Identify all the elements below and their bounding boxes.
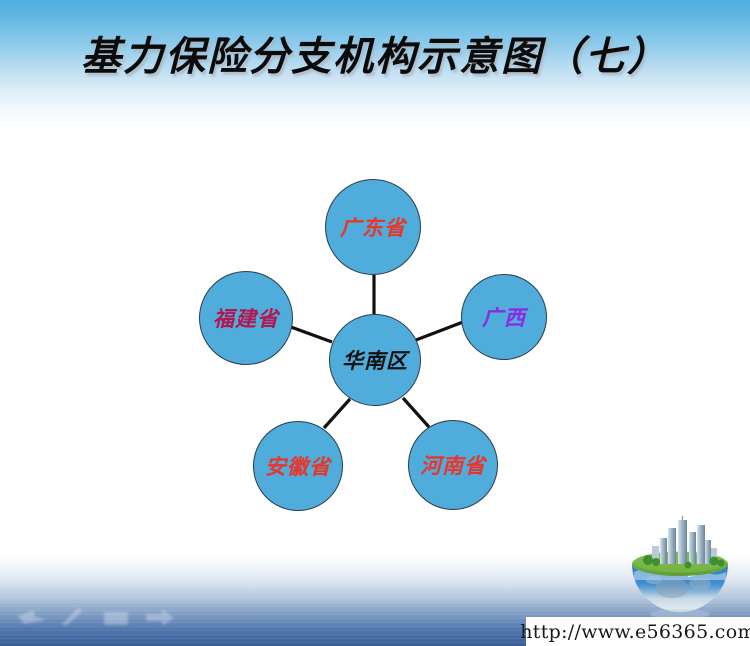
edge-center-to-henan (403, 398, 429, 427)
node-henan-label: 河南省 (420, 455, 486, 476)
node-fujian-label: 福建省 (213, 308, 279, 329)
node-henan[interactable]: 河南省 (408, 420, 498, 510)
node-guangdong[interactable]: 广东省 (325, 179, 421, 275)
edge-center-to-fujian (291, 327, 332, 342)
node-guangdong-label: 广东省 (340, 217, 406, 238)
node-anhui-label: 安徽省 (265, 456, 331, 477)
node-anhui[interactable]: 安徽省 (253, 421, 343, 511)
edge-center-to-guangxi (416, 322, 463, 340)
edge-center-to-anhui (324, 399, 350, 428)
node-center-label: 华南区 (342, 350, 408, 371)
node-guangxi[interactable]: 广西 (461, 274, 547, 360)
node-fujian[interactable]: 福建省 (199, 271, 293, 365)
globe-city-icon (626, 516, 734, 620)
slide-canvas: 基力保险分支机构示意图（七） 广东省 广西 福建省 安徽省 河南省 (0, 0, 750, 646)
node-center-huanan[interactable]: 华南区 (329, 314, 421, 406)
watermark-url: http://www.e56365.com (520, 621, 750, 643)
watermark-bar: http://www.e56365.com (526, 617, 750, 646)
node-guangxi-label: 广西 (482, 307, 526, 328)
